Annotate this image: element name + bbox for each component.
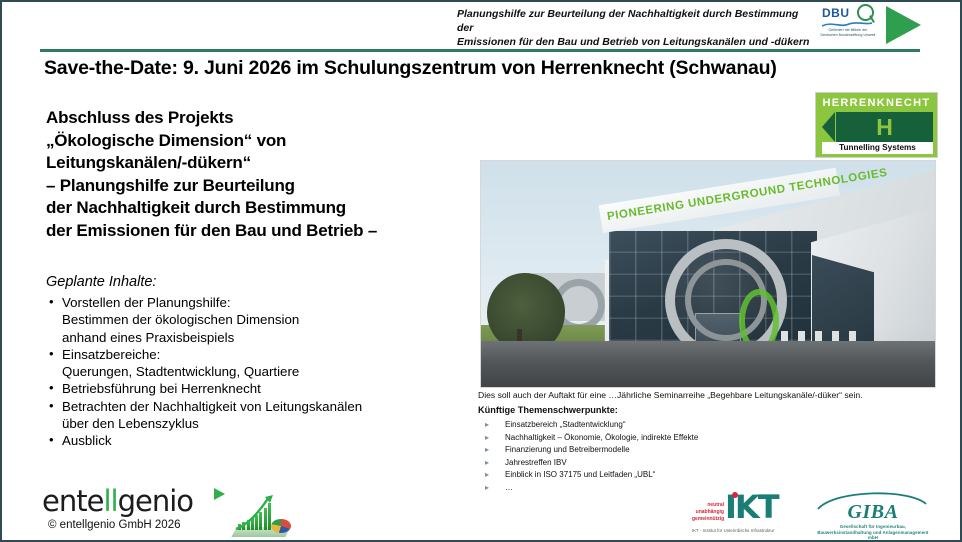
- caption-bullet-icon: ▸: [485, 444, 489, 457]
- caption-topic-label: Einsatzbereich „Stadtentwicklung“: [505, 420, 626, 429]
- dbu-funding-note: Gefördert mit Mitteln der Deutschen Bund…: [820, 28, 876, 38]
- herrenknecht-wordmark: HERRENKNECHT: [816, 97, 937, 109]
- caption-topic-label: Jahrestreffen IBV: [505, 458, 567, 467]
- header-subtitle-line-2: Emissionen für den Bau und Betrieb von L…: [457, 35, 817, 49]
- ikt-claim-line-3: gemeinnützig: [692, 516, 724, 523]
- bullet-icon: •: [49, 345, 54, 362]
- caption-topic-label: …: [505, 483, 513, 492]
- giba-subtitle: Gesellschaft für Ingenieurbau, Bauwerksi…: [814, 524, 932, 541]
- agenda-item-line-3: anhand eines Praxisbeispiels: [62, 329, 466, 346]
- project-heading-line-1: Abschluss des Projekts: [46, 107, 476, 130]
- caption-topic-label: Finanzierung und Betreibermodelle: [505, 445, 630, 454]
- agenda-item-line-1: Betriebsführung bei Herrenknecht: [62, 380, 466, 397]
- agenda-item-line-2: über den Lebenszyklus: [62, 415, 466, 432]
- caption-topic-list: ▸Einsatzbereich „Stadtentwicklung“▸Nachh…: [478, 419, 936, 495]
- bullet-icon: •: [49, 293, 54, 310]
- dbu-logo: DBU Gefördert mit Mitteln der Deutschen …: [820, 3, 876, 51]
- giba-logo: GIBA Gesellschaft für Ingenieurbau, Bauw…: [814, 488, 932, 538]
- growth-bar-chart-icon: [232, 491, 292, 539]
- building-photo: PIONEERING UNDERGROUND TECHNOLOGIES: [480, 160, 936, 388]
- agenda-item: •Betrachten der Nachhaltigkeit von Leitu…: [46, 398, 466, 433]
- project-heading-line-5: der Nachhaltigkeit durch Bestimmung: [46, 197, 476, 220]
- agenda-item: •Vorstellen der Planungshilfe:Bestimmen …: [46, 294, 466, 346]
- ikt-claim-line-2: unabhängig: [692, 509, 724, 516]
- agenda-list: •Vorstellen der Planungshilfe:Bestimmen …: [46, 294, 466, 450]
- agenda-item-line-1: Ausblick: [62, 432, 466, 449]
- dbu-circle-icon: [857, 4, 874, 21]
- agenda-label: Geplante Inhalte:: [46, 274, 156, 290]
- ikt-dot-icon: [732, 492, 738, 498]
- bullet-icon: •: [49, 431, 54, 448]
- caption-topic-item: ▸Einblick in ISO 37175 und Leitfaden „UB…: [478, 469, 936, 482]
- bullet-icon: •: [49, 379, 54, 396]
- herrenknecht-monogram: H: [836, 112, 933, 142]
- agenda-item: •Ausblick: [46, 432, 466, 449]
- caption-topic-label: Einblick in ISO 37175 und Leitfaden „UBL…: [505, 470, 655, 479]
- slide-canvas: Planungshilfe zur Beurteilung der Nachha…: [0, 0, 962, 542]
- caption-bullet-icon: ▸: [485, 419, 489, 432]
- ikt-claim-line-1: neutral: [692, 502, 724, 509]
- page-title: Save-the-Date: 9. Juni 2026 im Schulungs…: [44, 57, 904, 80]
- project-heading-line-3: Leitungskanälen/-dükern“: [46, 152, 476, 175]
- photo-caption-block: Dies soll auch der Auftakt für eine …Jäh…: [478, 390, 936, 495]
- entellgenio-wordmark: entellgenio: [42, 486, 227, 516]
- caption-bullet-icon: ▸: [485, 469, 489, 482]
- dbu-wordmark: DBU: [822, 6, 850, 20]
- entellgenio-triangle-icon: [214, 488, 225, 500]
- caption-topic-label: Nachhaltigkeit – Ökonomie, Ökologie, ind…: [505, 433, 698, 442]
- caption-topic-item: ▸Jahrestreffen IBV: [478, 457, 936, 470]
- caption-heading: Künftige Themenschwerpunkte:: [478, 405, 936, 415]
- project-heading-line-6: der Emissionen für den Bau und Betrieb –: [46, 220, 476, 243]
- agenda-item-line-1: Betrachten der Nachhaltigkeit von Leitun…: [62, 398, 466, 415]
- header-subtitle: Planungshilfe zur Beurteilung der Nachha…: [457, 7, 817, 49]
- ikt-logo: neutral unabhängig gemeinnützig IKT IKT …: [692, 491, 784, 537]
- entellgenio-word-part2: ll: [103, 484, 117, 518]
- caption-intro: Dies soll auch der Auftakt für eine …Jäh…: [478, 390, 936, 400]
- chart-pie-icon: [271, 519, 291, 533]
- project-heading: Abschluss des Projekts„Ökologische Dimen…: [46, 107, 476, 242]
- caption-topic-item: ▸Nachhaltigkeit – Ökonomie, Ökologie, in…: [478, 432, 936, 445]
- ikt-subtitle: IKT - Institut für Unterirdische Infrast…: [692, 528, 784, 533]
- green-play-arrow-icon: [886, 6, 921, 44]
- caption-bullet-icon: ▸: [485, 432, 489, 445]
- agenda-item-line-2: Bestimmen der ökologischen Dimension: [62, 311, 466, 328]
- project-heading-line-2: „Ökologische Dimension“ von: [46, 130, 476, 153]
- project-heading-line-4: – Planungshilfe zur Beurteilung: [46, 175, 476, 198]
- agenda-item: •Einsatzbereiche:Querungen, Stadtentwick…: [46, 346, 466, 381]
- slide-header: Planungshilfe zur Beurteilung der Nachha…: [2, 2, 960, 44]
- entellgenio-logo: entellgenio: [42, 486, 227, 516]
- header-divider: [40, 49, 920, 52]
- caption-bullet-icon: ▸: [485, 457, 489, 470]
- herrenknecht-symbol: H: [822, 112, 933, 142]
- monogram-box: H: [836, 112, 933, 142]
- agenda-item: •Betriebsführung bei Herrenknecht: [46, 380, 466, 397]
- entellgenio-word-part1: ente: [42, 484, 103, 518]
- herrenknecht-logo: HERRENKNECHT H Tunnelling Systems: [815, 92, 938, 158]
- ikt-claim: neutral unabhängig gemeinnützig: [692, 502, 724, 524]
- header-subtitle-line-1: Planungshilfe zur Beurteilung der Nachha…: [457, 7, 817, 35]
- dbu-wave-icon: [822, 21, 872, 28]
- giba-wordmark: GIBA: [814, 501, 932, 524]
- caption-topic-item: ▸Finanzierung und Betreibermodelle: [478, 444, 936, 457]
- agenda-item-line-1: Einsatzbereiche:: [62, 346, 466, 363]
- entellgenio-word-part3: genio: [118, 484, 193, 518]
- bullet-icon: •: [49, 397, 54, 414]
- chevron-left-icon: [822, 112, 835, 142]
- copyright-text: © entellgenio GmbH 2026: [48, 519, 181, 531]
- herrenknecht-tagline: Tunnelling Systems: [822, 142, 933, 154]
- agenda-item-line-1: Vorstellen der Planungshilfe:: [62, 294, 466, 311]
- photo-overlay: [481, 161, 935, 387]
- caption-topic-item: ▸Einsatzbereich „Stadtentwicklung“: [478, 419, 936, 432]
- caption-bullet-icon: ▸: [485, 482, 489, 495]
- agenda-item-line-2: Querungen, Stadtentwicklung, Quartiere: [62, 363, 466, 380]
